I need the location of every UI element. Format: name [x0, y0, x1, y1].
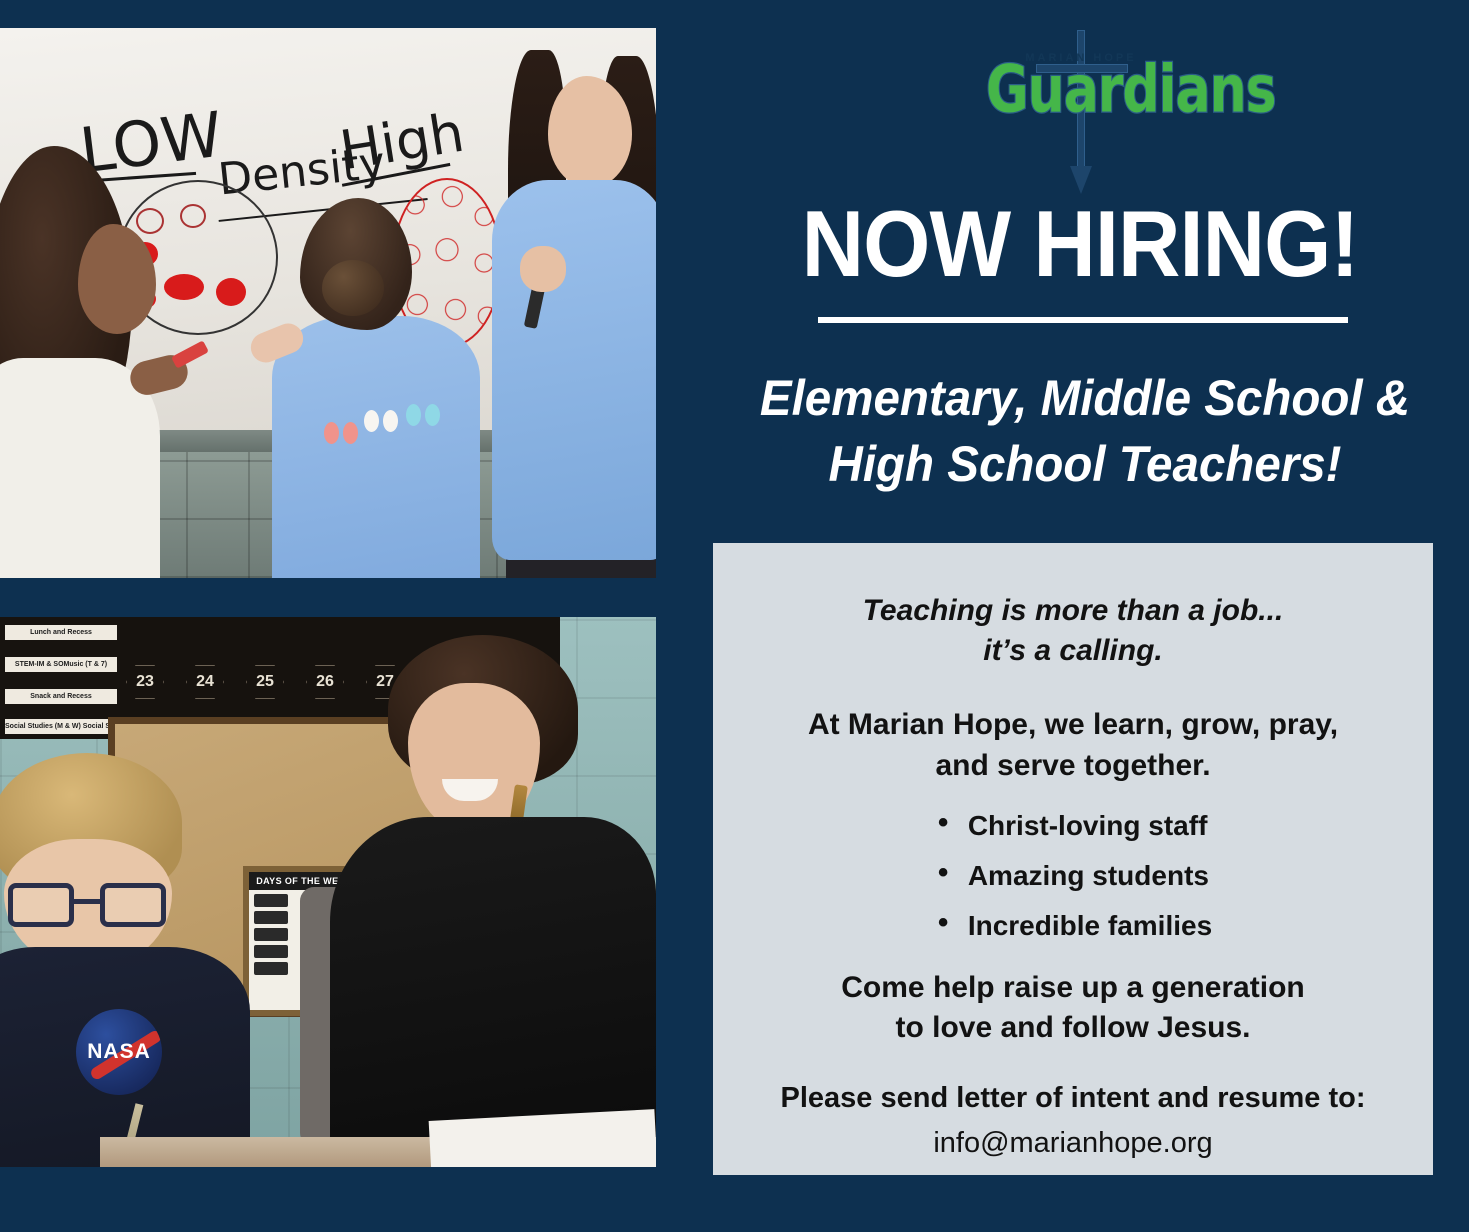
- photo-classroom-teacher-student: 23 24 25 26 27 28 Lunch and Recess STEM-…: [0, 617, 656, 1167]
- subtitle-line-1: Elementary, Middle School &: [760, 370, 1410, 426]
- student-two-shirt: [272, 316, 480, 578]
- intro-text: At Marian Hope, we learn, grow, pray, an…: [753, 705, 1393, 785]
- list-item: Christ-loving staff: [934, 812, 1212, 840]
- boy-glasses: [8, 883, 166, 927]
- schedule-strip: Lunch and Recess STEM-IM & SOMusic (T & …: [0, 617, 120, 739]
- closing-line-1: Come help raise up a generation: [753, 968, 1393, 1008]
- days-row: [254, 911, 288, 924]
- shirt-bow-pink: [324, 420, 358, 446]
- page-title: NOW HIRING!: [730, 190, 1429, 298]
- calling-line-2: it’s a calling.: [753, 631, 1393, 671]
- teacher-hand: [520, 246, 566, 292]
- days-row: [254, 962, 288, 975]
- details-panel: Teaching is more than a job... it’s a ca…: [713, 543, 1433, 1175]
- glasses-lens-right: [100, 883, 166, 927]
- calendar-day: 26: [306, 665, 344, 699]
- list-item: Incredible families: [934, 912, 1212, 940]
- schedule-label: Snack and Recess: [5, 689, 117, 704]
- intro-line-1: At Marian Hope, we learn, grow, pray,: [753, 705, 1393, 745]
- schedule-label: Lunch and Recess: [5, 625, 117, 640]
- calling-tagline: Teaching is more than a job... it’s a ca…: [753, 591, 1393, 671]
- glasses-lens-left: [8, 883, 74, 927]
- shirt-bow-teal: [406, 402, 440, 428]
- schedule-label: STEM-IM & SOMusic (T & 7): [5, 657, 117, 672]
- subtitle: Elementary, Middle School & High School …: [757, 365, 1413, 497]
- apply-instructions: Please send letter of intent and resume …: [753, 1082, 1393, 1115]
- list-item: Amazing students: [934, 862, 1212, 890]
- title-divider: [818, 317, 1348, 323]
- closing-line-2: to love and follow Jesus.: [753, 1008, 1393, 1048]
- calling-line-1: Teaching is more than a job...: [753, 591, 1393, 631]
- nasa-logo-icon: NASA: [76, 1009, 162, 1095]
- days-row: [254, 894, 288, 907]
- marian-hope-guardians-logo: MARIAN HOPE Guardians: [986, 26, 1176, 178]
- student-two-bun: [322, 260, 384, 316]
- calendar-day: 25: [246, 665, 284, 699]
- glasses-bridge: [74, 899, 100, 904]
- calendar-day: 24: [186, 665, 224, 699]
- contact-email[interactable]: info@marianhope.org: [753, 1127, 1393, 1160]
- benefits-list: Christ-loving staff Amazing students Inc…: [934, 812, 1212, 962]
- subtitle-line-2: High School Teachers!: [757, 431, 1413, 497]
- intro-line-2: and serve together.: [753, 746, 1393, 786]
- hiring-poster: LOW Density High: [0, 0, 1469, 1232]
- calendar-day: 23: [126, 665, 164, 699]
- shirt-bow-white: [364, 408, 398, 434]
- logo-wordmark: Guardians: [986, 58, 1176, 123]
- days-row: [254, 945, 288, 958]
- nasa-logo-text: NASA: [87, 1040, 151, 1064]
- schedule-label: Social Studies (M & W) Social Studies (T…: [5, 719, 117, 734]
- teacher-sweatshirt: [492, 180, 656, 560]
- days-row: [254, 928, 288, 941]
- photo-whiteboard-students: LOW Density High: [0, 28, 656, 578]
- closing-text: Come help raise up a generation to love …: [753, 968, 1393, 1048]
